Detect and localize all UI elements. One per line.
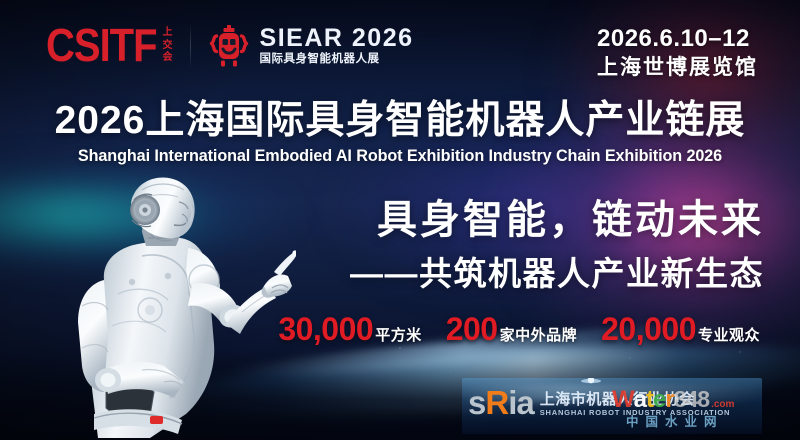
watermark-letter-r: r xyxy=(665,388,673,412)
stat-item-brands: 200 家中外品牌 xyxy=(446,313,577,345)
csitf-cn-char-1: 上 xyxy=(163,27,174,40)
sria-wordmark: sRia xyxy=(468,386,534,419)
slogan-line-2: ——共筑机器人产业新生态 xyxy=(350,256,764,292)
sria-letter-r: R xyxy=(485,384,508,421)
watermark-number: 848 xyxy=(674,388,709,411)
site-watermark: Water848.com 中国水业网 xyxy=(612,388,800,436)
watermark-letter-w: W xyxy=(612,388,634,412)
watermark-wordmark: Water848.com xyxy=(612,388,800,412)
robot-face-icon xyxy=(207,24,251,68)
watermark-cn: 中国水业网 xyxy=(626,416,800,429)
exhibition-banner: CSITF 上 交 会 xyxy=(0,0,800,440)
stat-item-visitors: 20,000 专业观众 xyxy=(601,313,760,345)
stat-area-number: 30,000 xyxy=(278,313,373,345)
csitf-cn-char-3: 会 xyxy=(163,52,174,65)
watermark-tld: .com xyxy=(711,400,734,410)
csitf-logo: CSITF 上 交 会 xyxy=(46,26,174,66)
sria-letter-s: s xyxy=(468,384,485,421)
watermark-letter-a: a xyxy=(634,388,646,412)
watermark-letter-t: t xyxy=(646,388,653,412)
siear-name-cn: 国际具身智能机器人展 xyxy=(260,54,414,66)
siear-name-en: SIEAR 2026 xyxy=(260,26,414,51)
logo-divider xyxy=(190,24,191,68)
stat-brands-unit: 家中外品牌 xyxy=(500,324,578,345)
stat-item-area: 30,000 平方米 xyxy=(278,313,421,345)
csitf-chinese-name: 上 交 会 xyxy=(163,27,174,65)
siear-logo: SIEAR 2026 国际具身智能机器人展 xyxy=(207,24,414,68)
humanoid-robot-illustration xyxy=(46,176,296,440)
banner-header: CSITF 上 交 会 xyxy=(0,0,800,92)
stats-row: 30,000 平方米 200 家中外品牌 20,000 专业观众 xyxy=(278,313,760,345)
watermark-letter-e: e xyxy=(653,388,665,412)
stat-visitors-number: 20,000 xyxy=(601,313,696,345)
page-title: 2026上海国际具身智能机器人产业链展 xyxy=(20,98,780,144)
stat-area-unit: 平方米 xyxy=(375,324,422,345)
page-subtitle-en: Shanghai International Embodied AI Robot… xyxy=(10,147,790,166)
stat-visitors-unit: 专业观众 xyxy=(698,324,760,345)
csitf-cn-char-2: 交 xyxy=(163,40,174,53)
stat-brands-number: 200 xyxy=(446,313,498,345)
csitf-acronym: CSITF xyxy=(46,23,157,69)
siear-text-block: SIEAR 2026 国际具身智能机器人展 xyxy=(260,26,414,66)
logo-group: CSITF 上 交 会 xyxy=(46,24,414,68)
slogan-line-1: 具身智能，链动未来 xyxy=(377,198,764,242)
event-date-venue: 2026.6.10–12 上海世博展览馆 xyxy=(597,24,758,81)
event-date: 2026.6.10–12 xyxy=(597,24,758,54)
sria-letters-ia: ia xyxy=(508,384,534,421)
event-venue: 上海世博展览馆 xyxy=(597,54,758,81)
